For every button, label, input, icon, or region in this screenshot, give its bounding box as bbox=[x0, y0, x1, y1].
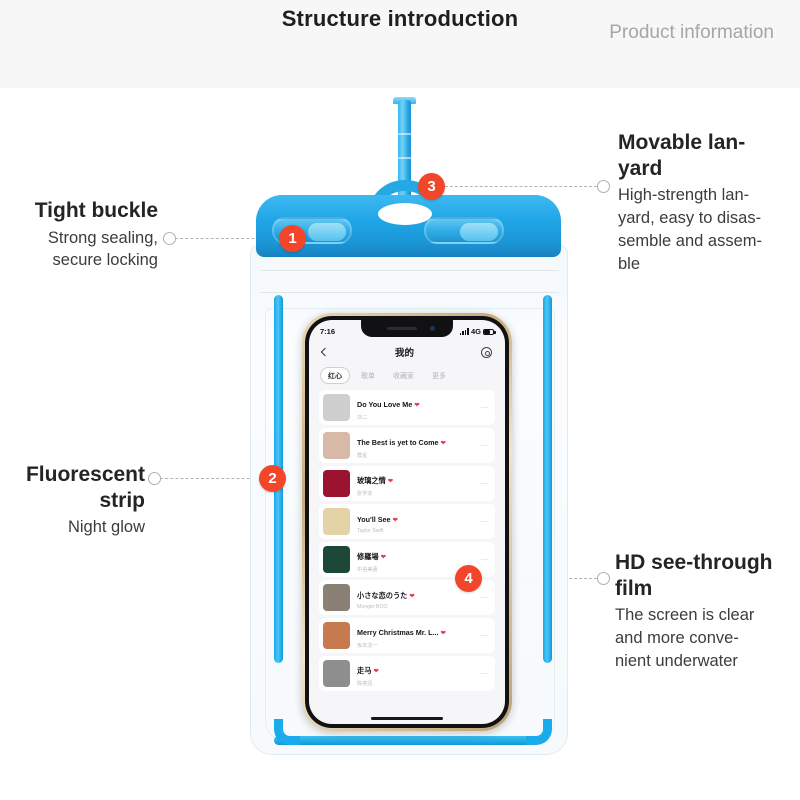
phone-bezel: 7:16 4G 我的 红心 歌单 bbox=[305, 316, 509, 728]
more-options-icon[interactable]: ⋯ bbox=[480, 517, 489, 526]
list-item[interactable]: Do You Love Me❤ 刘二 ⋯ bbox=[319, 390, 495, 425]
callout-fluorescent-strip: Fluorescent strip Night glow bbox=[0, 462, 145, 539]
front-camera-icon bbox=[430, 326, 435, 331]
app-page-title: 我的 bbox=[395, 345, 414, 359]
album-art bbox=[323, 508, 350, 535]
heart-icon: ❤ bbox=[440, 440, 445, 447]
list-item[interactable]: 玻璃之情❤ 张学友 ⋯ bbox=[319, 466, 495, 501]
callout-body: High-strength lan- yard, easy to disas- … bbox=[618, 184, 796, 275]
song-info: 走马❤ 陈奕迅 bbox=[357, 660, 473, 687]
tab-shoucang[interactable]: 收藏家 bbox=[386, 368, 421, 383]
callout-tight-buckle: Tight buckle Strong sealing, secure lock… bbox=[10, 198, 158, 272]
network-label: 4G bbox=[471, 327, 481, 336]
heart-icon: ❤ bbox=[440, 630, 445, 637]
song-title: 小さな恋のうた❤ bbox=[357, 591, 415, 600]
lanyard-segment bbox=[398, 133, 411, 135]
album-art bbox=[323, 394, 350, 421]
song-artist: 坂本龙一 bbox=[357, 642, 473, 649]
song-title: 修羅場❤ bbox=[357, 552, 386, 561]
album-art bbox=[323, 622, 350, 649]
album-art bbox=[323, 470, 350, 497]
list-item[interactable]: Merry Christmas Mr. L...❤ 坂本龙一 ⋯ bbox=[319, 618, 495, 653]
song-info: 小さな恋のうた❤ Monger BOO bbox=[357, 585, 473, 611]
badge-3: 3 bbox=[418, 173, 445, 200]
callout-body: Night glow bbox=[0, 516, 145, 539]
callout-title: Fluorescent strip bbox=[0, 462, 145, 513]
album-art bbox=[323, 432, 350, 459]
song-list: Do You Love Me❤ 刘二 ⋯ The Best is yet to … bbox=[309, 390, 505, 691]
fluorescent-strip-bottom bbox=[274, 736, 540, 745]
fluorescent-strip-right bbox=[543, 295, 552, 663]
song-artist: 刘二 bbox=[357, 414, 473, 421]
callout-title: Movable lan- yard bbox=[618, 130, 796, 181]
callout-title: HD see-through film bbox=[615, 550, 797, 601]
list-item[interactable]: 走马❤ 陈奕迅 ⋯ bbox=[319, 656, 495, 691]
status-indicators: 4G bbox=[460, 327, 494, 336]
song-title: Do You Love Me❤ bbox=[357, 400, 420, 409]
heart-icon: ❤ bbox=[414, 402, 419, 409]
more-options-icon[interactable]: ⋯ bbox=[480, 669, 489, 678]
pouch-seam bbox=[261, 292, 559, 293]
callout-hd-film: HD see-through film The screen is clear … bbox=[615, 550, 797, 673]
tab-hongxin[interactable]: 红心 bbox=[320, 367, 350, 384]
list-item[interactable]: The Best is yet to Come❤ 群星 ⋯ bbox=[319, 428, 495, 463]
badge-1: 1 bbox=[279, 225, 306, 252]
connector-dot-1 bbox=[163, 232, 176, 245]
song-info: 玻璃之情❤ 张学友 bbox=[357, 470, 473, 497]
leader-line-2 bbox=[155, 478, 265, 479]
heart-icon: ❤ bbox=[409, 593, 414, 600]
song-info: Do You Love Me❤ 刘二 bbox=[357, 394, 473, 421]
song-info: The Best is yet to Come❤ 群星 bbox=[357, 432, 473, 459]
connector-dot-3 bbox=[597, 180, 610, 193]
more-options-icon[interactable]: ⋯ bbox=[480, 593, 489, 602]
app-tab-bar: 红心 歌单 收藏家 更多 bbox=[309, 364, 505, 390]
header-subtitle: Product information bbox=[544, 20, 774, 45]
more-options-icon[interactable]: ⋯ bbox=[480, 441, 489, 450]
callout-movable-lanyard: Movable lan- yard High-strength lan- yar… bbox=[618, 130, 796, 275]
buckle-hole bbox=[378, 203, 432, 225]
album-art bbox=[323, 546, 350, 573]
more-options-icon[interactable]: ⋯ bbox=[480, 479, 489, 488]
song-artist: Monger BOO bbox=[357, 604, 473, 610]
album-art bbox=[323, 584, 350, 611]
heart-icon: ❤ bbox=[393, 517, 398, 524]
badge-2: 2 bbox=[259, 465, 286, 492]
more-options-icon[interactable]: ⋯ bbox=[480, 555, 489, 564]
song-artist: 群星 bbox=[357, 452, 473, 459]
callout-body: The screen is clear and more conve- nien… bbox=[615, 604, 797, 672]
connector-dot-2 bbox=[148, 472, 161, 485]
product-illustration: 7:16 4G 我的 红心 歌单 bbox=[248, 95, 578, 775]
song-title: 走马❤ bbox=[357, 666, 379, 675]
heart-icon: ❤ bbox=[388, 478, 393, 485]
earpiece-speaker-icon bbox=[387, 327, 417, 330]
heart-icon: ❤ bbox=[381, 554, 386, 561]
signal-bars-icon bbox=[460, 328, 469, 335]
song-artist: Taylor Swift bbox=[357, 528, 473, 534]
song-info: You'll See❤ Taylor Swift bbox=[357, 509, 473, 535]
page-header: Structure introduction Product informati… bbox=[0, 0, 800, 88]
list-item[interactable]: You'll See❤ Taylor Swift ⋯ bbox=[319, 504, 495, 539]
badge-4: 4 bbox=[455, 565, 482, 592]
callout-title: Tight buckle bbox=[10, 198, 158, 224]
gear-icon[interactable] bbox=[481, 347, 492, 358]
smartphone: 7:16 4G 我的 红心 歌单 bbox=[302, 313, 512, 731]
battery-icon bbox=[483, 329, 494, 335]
connector-dot-4 bbox=[597, 572, 610, 585]
more-options-icon[interactable]: ⋯ bbox=[480, 631, 489, 640]
song-info: 修羅場❤ 中島美嘉 bbox=[357, 546, 473, 573]
album-art bbox=[323, 660, 350, 687]
phone-screen[interactable]: 7:16 4G 我的 红心 歌单 bbox=[309, 320, 505, 724]
tab-gengduo[interactable]: 更多 bbox=[425, 368, 453, 383]
callout-body: Strong sealing, secure locking bbox=[10, 227, 158, 273]
phone-notch bbox=[361, 320, 453, 337]
app-nav-bar: 我的 bbox=[309, 339, 505, 364]
song-title: You'll See❤ bbox=[357, 515, 398, 524]
infographic-page: Structure introduction Product informati… bbox=[0, 0, 800, 800]
chevron-left-icon[interactable] bbox=[321, 348, 329, 356]
buckle-latch-right[interactable] bbox=[424, 217, 504, 244]
song-title: Merry Christmas Mr. L...❤ bbox=[357, 628, 446, 637]
song-title: 玻璃之情❤ bbox=[357, 476, 393, 485]
song-info: Merry Christmas Mr. L...❤ 坂本龙一 bbox=[357, 622, 473, 649]
status-time: 7:16 bbox=[320, 327, 335, 336]
pouch-seam bbox=[261, 270, 559, 271]
tab-gedan[interactable]: 歌单 bbox=[354, 368, 382, 383]
song-artist: 陈奕迅 bbox=[357, 680, 473, 687]
more-options-icon[interactable]: ⋯ bbox=[480, 403, 489, 412]
leader-line-3 bbox=[440, 186, 602, 187]
heart-icon: ❤ bbox=[373, 668, 378, 675]
song-artist: 张学友 bbox=[357, 490, 473, 497]
song-title: The Best is yet to Come❤ bbox=[357, 438, 446, 447]
home-indicator bbox=[371, 717, 443, 720]
lanyard-segment bbox=[398, 157, 411, 159]
